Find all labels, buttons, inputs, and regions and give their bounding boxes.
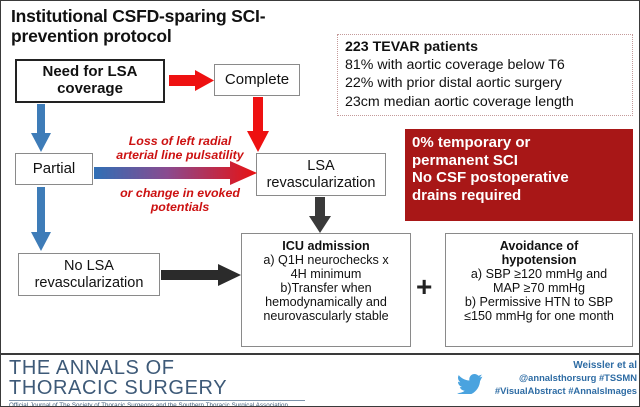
- icu-line-1: a) Q1H neurochecks x: [246, 253, 406, 267]
- hypotension-line-1: a) SBP ≥120 mmHg and: [450, 267, 628, 281]
- results-line-2: permanent SCI: [412, 152, 633, 170]
- icu-line-5: neurovascularly stable: [246, 309, 406, 323]
- twitter-icon[interactable]: [457, 374, 483, 394]
- results-line-4: drains required: [412, 187, 633, 205]
- stats-line-2: 22% with prior distal aortic surgery: [345, 74, 626, 92]
- flow-box-need-label: Need for LSA coverage: [17, 64, 163, 98]
- hypotension-line-3: b) Permissive HTN to SBP: [450, 295, 628, 309]
- flow-box-partial-label: Partial: [33, 161, 76, 178]
- journal-logo-line-1: THE ANNALS OF: [9, 358, 329, 378]
- journal-logo-rule: [9, 400, 305, 401]
- flow-box-complete: Complete: [214, 64, 300, 96]
- dark-arrow-no-lsa-to-icu: [161, 263, 241, 287]
- annotation-trigger-bottom: or change in evoked potentials: [97, 186, 263, 214]
- blue-arrow-partial-to-no-lsa: [31, 187, 51, 251]
- flow-box-no-lsa-revascularization: No LSA revascularization: [18, 253, 160, 296]
- icu-line-3: b)Transfer when: [246, 281, 406, 295]
- annotation-bottom-line-1: or change in evoked: [97, 186, 263, 200]
- hypotension-line-2: MAP ≥70 mmHg: [450, 281, 628, 295]
- results-panel: 0% temporary or permanent SCI No CSF pos…: [405, 129, 633, 221]
- hypotension-title-line-2: hypotension: [450, 253, 628, 267]
- credit-authors: Weissler et al: [397, 359, 637, 372]
- icu-title: ICU admission: [246, 239, 406, 253]
- red-arrow-complete-to-lsa-revascularization: [247, 97, 269, 152]
- icu-line-2: 4H minimum: [246, 267, 406, 281]
- flow-box-complete-label: Complete: [225, 72, 289, 89]
- journal-logo-subtitle: Official Journal of The Society of Thora…: [9, 402, 329, 407]
- flow-box-icu-admission: ICU admission a) Q1H neurochecks x 4H mi…: [241, 233, 411, 347]
- credit-handles: @annalsthorsurg #TSSMN: [397, 372, 637, 384]
- journal-logo-line-2: THORACIC SURGERY: [9, 378, 329, 398]
- annotation-bottom-line-2: potentials: [97, 200, 263, 214]
- plus-sign: +: [416, 273, 432, 301]
- flow-box-lsa-revascularization-label: LSA revascularization: [257, 158, 385, 190]
- stats-line-3: 23cm median aortic coverage length: [345, 93, 626, 111]
- icu-line-4: hemodynamically and: [246, 295, 406, 309]
- credit-block: Weissler et al @annalsthorsurg #TSSMN #V…: [397, 359, 637, 397]
- blue-arrow-need-to-partial: [31, 104, 51, 152]
- flow-box-lsa-revascularization: LSA revascularization: [256, 153, 386, 196]
- flow-box-avoidance-of-hypotension: Avoidance of hypotension a) SBP ≥120 mmH…: [445, 233, 633, 347]
- results-line-3: No CSF postoperative: [412, 169, 633, 187]
- red-arrow-need-to-complete: [169, 70, 214, 91]
- stats-panel: 223 TEVAR patients 81% with aortic cover…: [337, 34, 633, 116]
- journal-logo: THE ANNALS OF THORACIC SURGERY Official …: [9, 358, 329, 407]
- stats-line-1: 81% with aortic coverage below T6: [345, 56, 626, 74]
- flow-box-partial: Partial: [15, 153, 93, 185]
- footer-divider: [1, 353, 640, 355]
- credit-hashtags: #VisualAbstract #AnnalsImages: [397, 385, 637, 397]
- flow-box-need-lsa-coverage: Need for LSA coverage: [15, 59, 165, 103]
- visual-abstract-poster: Institutional CSFD-sparing SCI-preventio…: [0, 0, 640, 407]
- gradient-arrow-partial-to-lsa-revascularization: [94, 161, 257, 185]
- annotation-top-line-1: Loss of left radial: [97, 134, 263, 148]
- page-title: Institutional CSFD-sparing SCI-preventio…: [11, 7, 333, 46]
- stats-headline: 223 TEVAR patients: [345, 38, 626, 56]
- dark-arrow-lsa-revascularization-to-icu: [309, 197, 331, 233]
- flow-box-no-lsa-revascularization-label: No LSA revascularization: [19, 258, 159, 290]
- hypotension-title-line-1: Avoidance of: [450, 239, 628, 253]
- results-line-1: 0% temporary or: [412, 134, 633, 152]
- annotation-trigger-top: Loss of left radial arterial line pulsat…: [97, 134, 263, 162]
- hypotension-line-4: ≤150 mmHg for one month: [450, 309, 628, 323]
